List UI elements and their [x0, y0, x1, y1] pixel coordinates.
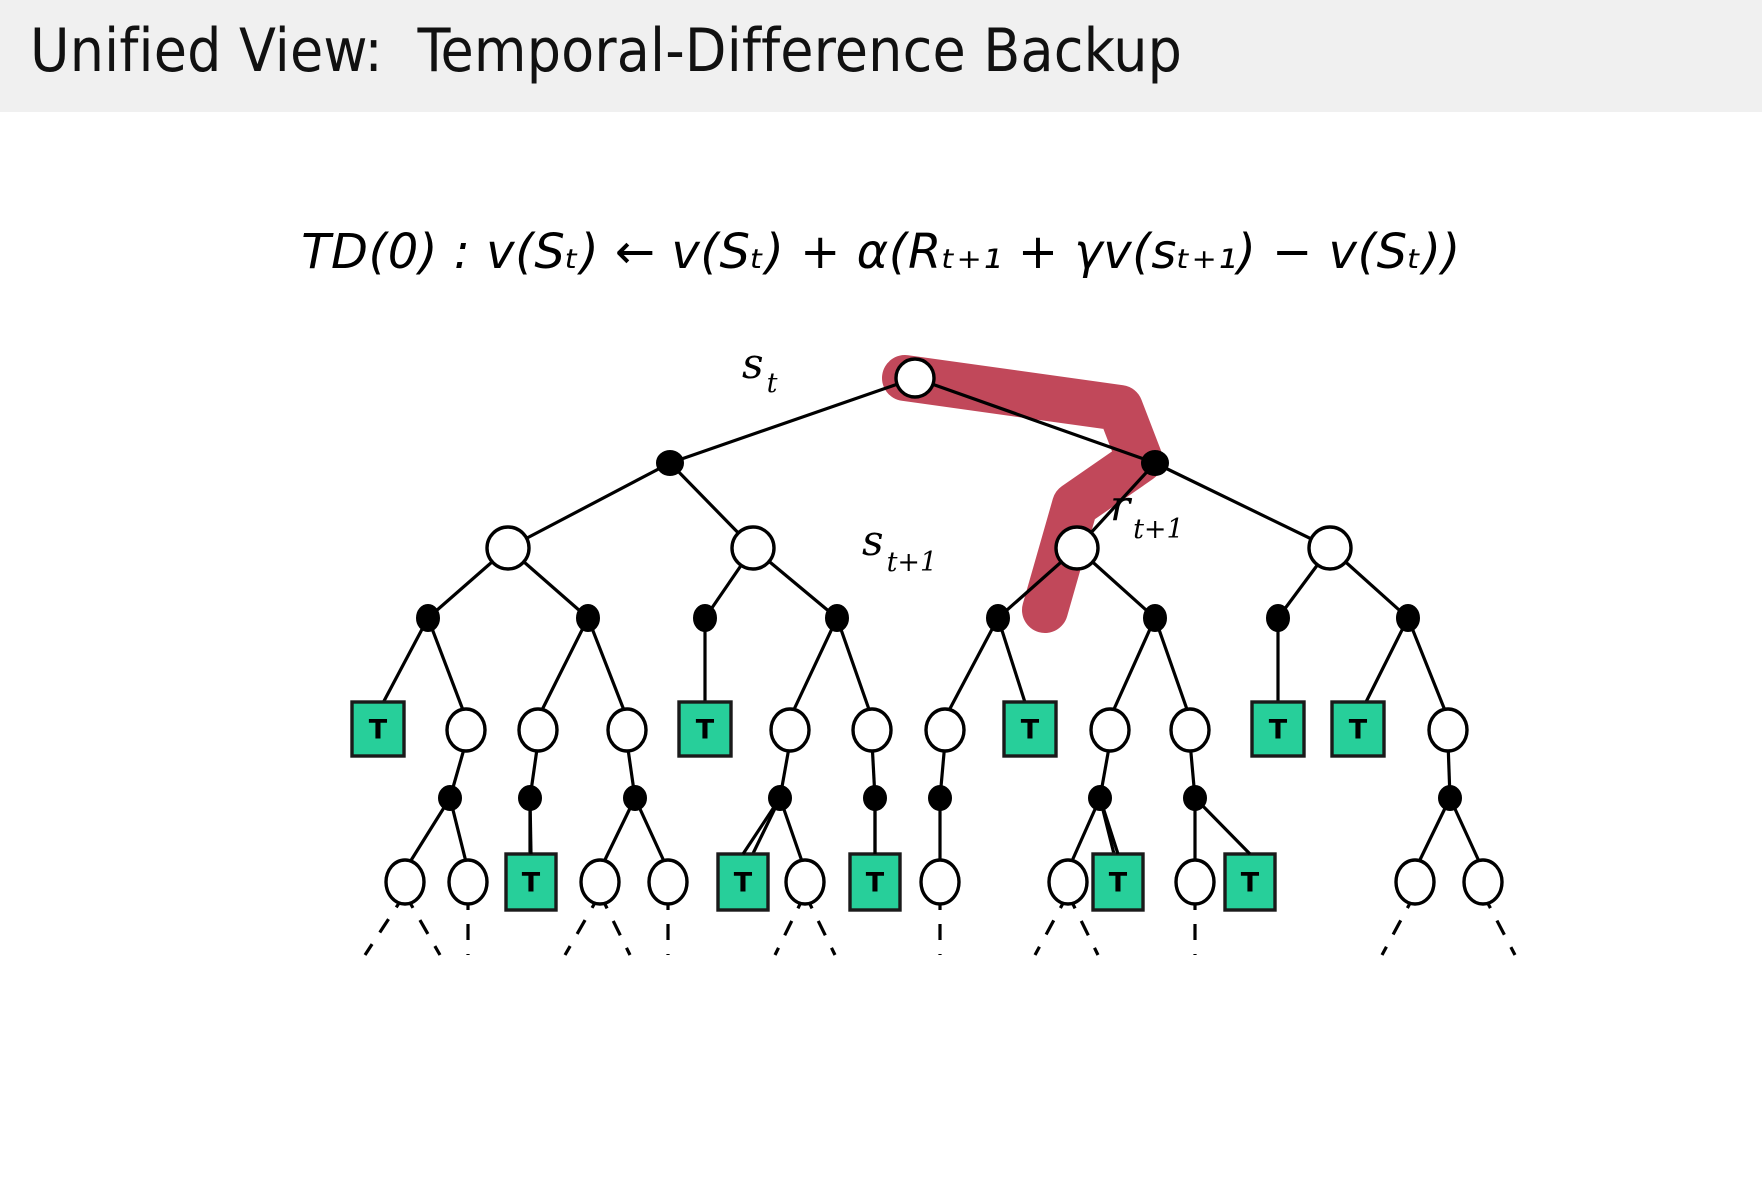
terminal-label: T — [369, 715, 388, 746]
action-node — [1439, 786, 1461, 810]
label-s-t-plus-1-sub: t+1 — [887, 547, 938, 578]
state-node — [447, 709, 485, 751]
state-node — [1464, 860, 1502, 904]
state-node — [386, 860, 424, 904]
state-node — [732, 527, 774, 569]
state-node — [649, 860, 687, 904]
page-title: Unified View: Temporal-Difference Backup — [30, 16, 1182, 86]
action-node — [1267, 605, 1289, 631]
td-update-formula: TD(0) : v(Sₜ) ← v(Sₜ) + α(Rₜ₊₁ + γv(sₜ₊₁… — [0, 224, 1762, 280]
terminal-label: T — [1109, 868, 1128, 899]
label-r-t-plus-1-base: r — [1110, 481, 1133, 530]
action-node — [1142, 451, 1168, 475]
state-node — [1309, 527, 1351, 569]
state-node — [581, 860, 619, 904]
terminal-label: T — [522, 868, 541, 899]
state-node — [1176, 860, 1214, 904]
state-node — [1049, 860, 1087, 904]
state-node — [519, 709, 557, 751]
terminal-node: T — [352, 702, 404, 756]
state-node — [786, 860, 824, 904]
action-node — [694, 605, 716, 631]
terminal-node: T — [1225, 854, 1275, 910]
state-node — [608, 709, 646, 751]
state-node — [487, 527, 529, 569]
terminal-node: T — [679, 702, 731, 756]
terminal-node: T — [718, 854, 768, 910]
title-bar: Unified View: Temporal-Difference Backup — [0, 0, 1762, 112]
state-node — [1429, 709, 1467, 751]
label-s-t-plus-1: st+1 — [862, 516, 937, 578]
terminal-label: T — [1269, 715, 1288, 746]
label-r-t-plus-1-sub: t+1 — [1133, 514, 1184, 545]
state-node-s-t — [896, 359, 934, 397]
state-node — [926, 709, 964, 751]
state-node — [853, 709, 891, 751]
state-node — [1396, 860, 1434, 904]
action-node — [826, 605, 848, 631]
label-s-t-sub: t — [767, 368, 778, 399]
terminal-node: T — [1332, 702, 1384, 756]
action-node — [1397, 605, 1419, 631]
label-s-t: st — [742, 339, 778, 399]
terminal-label: T — [1021, 715, 1040, 746]
action-node — [624, 786, 646, 810]
state-node — [921, 860, 959, 904]
action-node — [577, 605, 599, 631]
label-s-t-plus-1-base: s — [862, 516, 884, 565]
state-node — [1091, 709, 1129, 751]
state-node — [1171, 709, 1209, 751]
terminal-node: T — [1093, 854, 1143, 910]
action-node — [657, 451, 683, 475]
action-node — [439, 786, 461, 810]
action-node — [929, 786, 951, 810]
action-node — [417, 605, 439, 631]
state-node — [449, 860, 487, 904]
terminal-node: T — [1004, 702, 1056, 756]
backup-diagram: T T T T T — [0, 330, 1762, 1010]
state-nodes — [386, 359, 1502, 904]
terminal-node: T — [850, 854, 900, 910]
state-node-s-t-plus-1 — [1056, 527, 1098, 569]
terminal-label: T — [866, 868, 885, 899]
terminal-node: T — [1252, 702, 1304, 756]
terminal-label: T — [1349, 715, 1368, 746]
label-r-t-plus-1: rt+1 — [1110, 481, 1184, 545]
label-s-t-base: s — [742, 339, 764, 388]
state-node — [771, 709, 809, 751]
terminal-label: T — [1241, 868, 1260, 899]
action-node — [987, 605, 1009, 631]
action-node — [1144, 605, 1166, 631]
terminal-label: T — [696, 715, 715, 746]
terminal-label: T — [734, 868, 753, 899]
terminal-node: T — [506, 854, 556, 910]
highlight-brush-stroke — [905, 378, 1140, 610]
slide-canvas: Unified View: Temporal-Difference Backup… — [0, 0, 1762, 1182]
